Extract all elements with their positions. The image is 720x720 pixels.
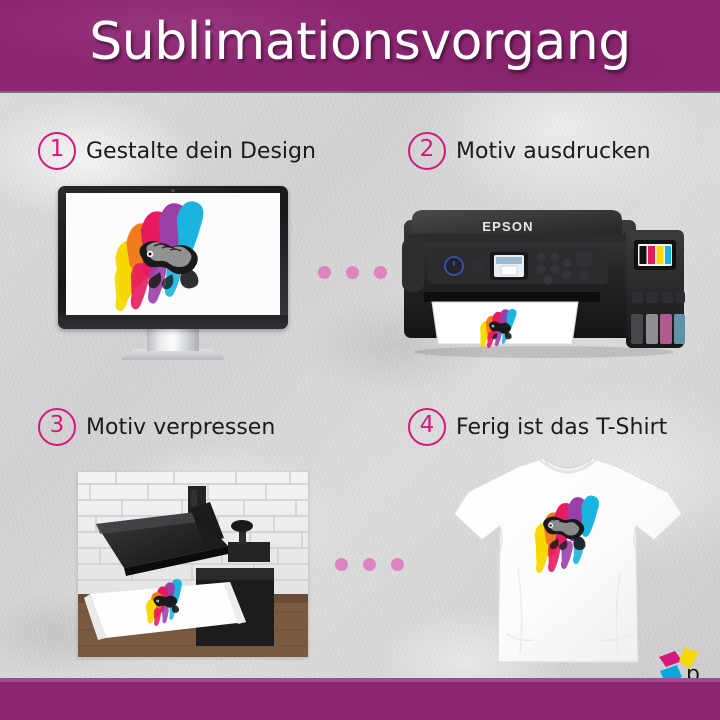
infographic-page: Sublimationsvorgang 1 Gestalte dein Desi… xyxy=(0,0,720,720)
step-2-heading: 2 Motiv ausdrucken xyxy=(408,132,651,170)
monitor-screen xyxy=(66,193,280,315)
tshirt-illustration xyxy=(448,448,688,676)
page-title: Sublimationsvorgang xyxy=(0,12,720,72)
step-1-number: 1 xyxy=(38,132,76,170)
step-4-number: 4 xyxy=(408,408,446,446)
header-banner: Sublimationsvorgang xyxy=(0,0,720,93)
step-3-number: 3 xyxy=(38,408,76,446)
webcam-icon xyxy=(171,189,175,192)
step-4-label: Ferig ist das T-Shirt xyxy=(456,415,667,440)
connector-dot xyxy=(346,266,359,279)
ink-level-window xyxy=(638,244,672,266)
connector-dot xyxy=(318,266,331,279)
footer-bar xyxy=(0,678,720,720)
chameleon-artwork-on-screen xyxy=(66,193,280,315)
connector-dot xyxy=(391,558,404,571)
heat-press-photo xyxy=(78,472,308,657)
monitor-stand-neck xyxy=(147,329,199,351)
monitor-chin xyxy=(58,315,288,329)
desktop-monitor-illustration xyxy=(58,186,288,361)
step-3-heading: 3 Motiv verpressen xyxy=(38,408,275,446)
dots-step1-to-step2 xyxy=(318,266,387,279)
step-1-heading: 1 Gestalte dein Design xyxy=(38,132,316,170)
step-2-number: 2 xyxy=(408,132,446,170)
step-4-heading: 4 Ferig ist das T-Shirt xyxy=(408,408,667,446)
logo-diamond-magenta xyxy=(659,651,682,667)
connector-dot xyxy=(363,558,376,571)
connector-dot xyxy=(335,558,348,571)
dots-step3-to-step4 xyxy=(335,558,404,571)
epson-printer-illustration: EPSON xyxy=(398,196,690,361)
connector-dot xyxy=(374,266,387,279)
step-2-label: Motiv ausdrucken xyxy=(456,139,651,164)
monitor-bezel xyxy=(58,186,288,329)
step-3-label: Motiv verpressen xyxy=(86,415,275,440)
printer-brand-label: EPSON xyxy=(482,219,534,234)
step-1-label: Gestalte dein Design xyxy=(86,139,316,164)
